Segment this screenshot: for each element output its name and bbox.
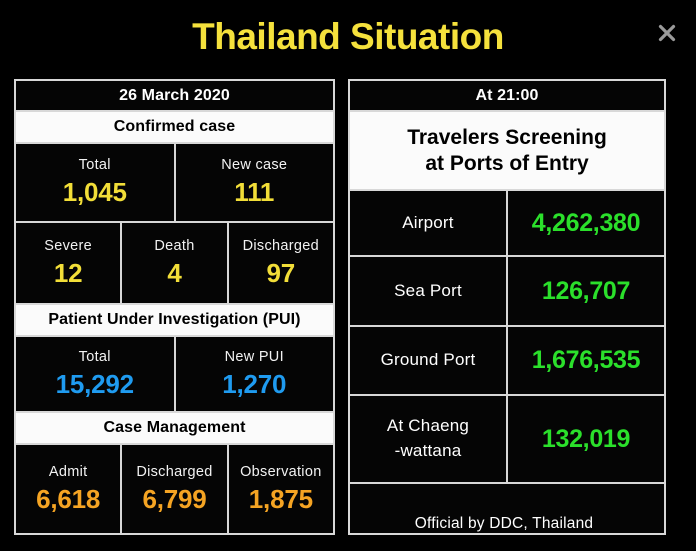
metric-label: Total <box>79 349 111 365</box>
case-management-band-row: Case Management <box>16 413 333 445</box>
travelers-screening-panel: At 21:00 Travelers Screening at Ports of… <box>348 79 666 535</box>
time-header-cell: At 21:00 <box>350 81 664 110</box>
port-label-airport: Airport <box>350 191 508 255</box>
metric-label: Death <box>154 238 194 254</box>
date-label: 26 March 2020 <box>119 87 230 105</box>
screening-title-line2: at Ports of Entry <box>425 151 588 177</box>
case-management-values-row: Admit 6,618 Discharged 6,799 Observation… <box>16 445 333 533</box>
metric-label: Total <box>79 157 111 173</box>
metric-value: 15,292 <box>56 369 134 400</box>
port-value: 126,707 <box>542 277 630 306</box>
port-label-ground-port: Ground Port <box>350 327 508 394</box>
table-row: Airport 4,262,380 <box>350 191 664 257</box>
port-value-sea-port: 126,707 <box>508 257 664 325</box>
metric-severe: Severe 12 <box>16 223 122 303</box>
time-label: At 21:00 <box>475 87 538 105</box>
metric-value: 111 <box>234 177 274 208</box>
port-label: Airport <box>402 211 453 236</box>
metric-label: New PUI <box>225 349 284 365</box>
source-footer: Official by DDC, Thailand <box>350 484 664 533</box>
port-label-line1: At Chaeng <box>387 414 469 439</box>
close-icon-glyph <box>655 21 679 45</box>
metric-value: 6,799 <box>142 484 206 515</box>
metric-value: 1,875 <box>249 484 313 515</box>
metric-label: New case <box>221 157 287 173</box>
table-row: Sea Port 126,707 <box>350 257 664 327</box>
port-value: 4,262,380 <box>532 209 641 238</box>
page-title: Thailand Situation <box>0 18 696 57</box>
screening-title-cell: Travelers Screening at Ports of Entry <box>350 112 664 189</box>
date-header-row: 26 March 2020 <box>16 81 333 112</box>
port-label-line2: -wattana <box>395 439 462 464</box>
situation-panel: 26 March 2020 Confirmed case Total 1,045… <box>14 79 335 535</box>
close-icon[interactable] <box>655 21 679 45</box>
metric-value: 12 <box>54 258 83 289</box>
metric-confirmed-total: Total 1,045 <box>16 144 176 221</box>
port-label: Sea Port <box>394 279 462 304</box>
metric-label: Observation <box>240 464 321 480</box>
port-label-sea-port: Sea Port <box>350 257 508 325</box>
metric-value: 97 <box>267 258 296 289</box>
metric-confirmed-new-case: New case 111 <box>176 144 334 221</box>
screening-title-line1: Travelers Screening <box>407 125 607 151</box>
time-header-row: At 21:00 <box>350 81 664 112</box>
port-label: Ground Port <box>381 348 476 373</box>
confirmed-totals-row: Total 1,045 New case 111 <box>16 144 333 223</box>
pui-title: Patient Under Investigation (PUI) <box>48 311 300 329</box>
source-footer-row: Official by DDC, Thailand <box>350 484 664 533</box>
pui-band-row: Patient Under Investigation (PUI) <box>16 305 333 337</box>
table-row: At Chaeng -wattana 132,019 <box>350 396 664 484</box>
metric-pui-new: New PUI 1,270 <box>176 337 334 411</box>
pui-band: Patient Under Investigation (PUI) <box>16 305 333 335</box>
metric-admit: Admit 6,618 <box>16 445 122 533</box>
metric-discharged: Discharged 97 <box>229 223 333 303</box>
port-value: 1,676,535 <box>532 346 641 375</box>
confirmed-breakdown-row: Severe 12 Death 4 Discharged 97 <box>16 223 333 305</box>
date-header-cell: 26 March 2020 <box>16 81 333 110</box>
metric-label: Discharged <box>243 238 319 254</box>
metric-cm-discharged: Discharged 6,799 <box>122 445 228 533</box>
confirmed-case-band-row: Confirmed case <box>16 112 333 144</box>
case-management-title: Case Management <box>104 419 246 437</box>
port-value: 132,019 <box>542 425 630 454</box>
metric-label: Discharged <box>136 464 212 480</box>
confirmed-case-title: Confirmed case <box>114 118 235 136</box>
metric-observation: Observation 1,875 <box>229 445 333 533</box>
table-row: Ground Port 1,676,535 <box>350 327 664 396</box>
metric-value: 4 <box>167 258 181 289</box>
pui-values-row: Total 15,292 New PUI 1,270 <box>16 337 333 413</box>
metric-value: 6,618 <box>36 484 100 515</box>
screening-title-row: Travelers Screening at Ports of Entry <box>350 112 664 191</box>
port-value-airport: 4,262,380 <box>508 191 664 255</box>
metric-value: 1,270 <box>222 369 286 400</box>
confirmed-case-band: Confirmed case <box>16 112 333 142</box>
case-management-band: Case Management <box>16 413 333 443</box>
port-label-chaeng-wattana: At Chaeng -wattana <box>350 396 508 482</box>
metric-death: Death 4 <box>122 223 228 303</box>
source-label: Official by DDC, Thailand <box>415 515 593 533</box>
metric-label: Severe <box>44 238 92 254</box>
metric-value: 1,045 <box>63 177 127 208</box>
port-value-chaeng-wattana: 132,019 <box>508 396 664 482</box>
port-value-ground-port: 1,676,535 <box>508 327 664 394</box>
metric-label: Admit <box>49 464 88 480</box>
metric-pui-total: Total 15,292 <box>16 337 176 411</box>
